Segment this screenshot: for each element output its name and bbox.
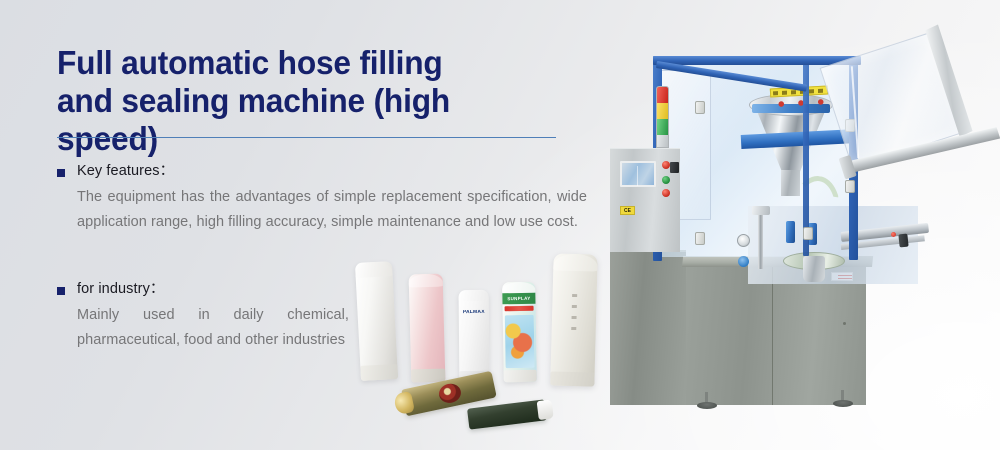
feature-title: for industry： (77, 280, 165, 299)
panel-clamp (803, 227, 813, 240)
text-column: Full automatic hose filling and sealing … (57, 44, 577, 158)
leveling-foot (697, 402, 717, 409)
toggle-switch (898, 234, 908, 248)
blue-indicator-dial (738, 256, 749, 267)
tube-green-sunplay: SUNPLAY (502, 282, 537, 383)
pressure-gauge (737, 234, 750, 247)
title-divider (57, 137, 556, 138)
feature-block-for-industry: for industry： Mainly used in daily chemi… (57, 280, 387, 353)
tube-crest-emblem (437, 382, 462, 405)
stack-light-tower (656, 86, 669, 148)
product-banner: Full automatic hose filling and sealing … (0, 0, 1000, 450)
tube-accent-stripe (505, 306, 534, 312)
tube-shoulder (355, 261, 393, 278)
filling-piston (758, 211, 763, 269)
feature-heading: Key features： (57, 162, 587, 181)
start-button (662, 176, 670, 184)
stack-light-green (657, 119, 668, 135)
filling-piston-head (752, 206, 770, 215)
tube-brand-label: PALMAX (459, 310, 489, 315)
tube-cap (411, 369, 445, 383)
red-indicator-lamp (891, 232, 896, 237)
hmi-touchscreen (620, 161, 656, 187)
stop-button (662, 189, 670, 197)
open-transparent-door (813, 23, 984, 184)
panel-clamp (695, 101, 705, 114)
tube-white-navy: PALMAX (459, 290, 490, 382)
ce-mark-label: CE (620, 206, 635, 215)
tube-cap (550, 371, 594, 386)
rotary-table-hub (803, 256, 825, 282)
tube-cap (504, 370, 537, 383)
stack-light-yellow (657, 103, 668, 119)
tube-cap (537, 399, 554, 420)
square-bullet-icon (57, 169, 65, 177)
cabinet-door-knob (843, 322, 846, 325)
feature-body: The equipment has the advantages of simp… (77, 185, 587, 235)
tube-beige-tall (550, 253, 597, 386)
tube-shoulder (553, 253, 597, 271)
stack-light-base (657, 135, 668, 148)
leveling-foot (833, 400, 853, 407)
stack-light-red (657, 87, 668, 103)
feature-block-key-features: Key features： The equipment has the adva… (57, 162, 587, 235)
selector-switch (670, 162, 679, 173)
tube-cap (393, 391, 415, 415)
tube-brand-label: SUNPLAY (502, 293, 535, 305)
tube-artwork (505, 315, 535, 368)
tube-white-care (355, 261, 398, 381)
feature-heading: for industry： (57, 280, 387, 299)
square-bullet-icon (57, 287, 65, 295)
tube-shoulder (409, 274, 443, 288)
product-tubes-photo: PALMAX SUNPLAY (340, 252, 602, 430)
tube-dot-pattern (571, 294, 577, 336)
machine-photo: CE (608, 28, 1000, 400)
tube-shoulder (459, 290, 489, 301)
emergency-stop-button (662, 161, 670, 169)
feature-title: Key features： (77, 162, 174, 181)
tube-brand-band: SUNPLAY (502, 293, 535, 305)
cabinet-doors (686, 265, 866, 405)
page-title: Full automatic hose filling and sealing … (57, 44, 556, 158)
tube-pink (409, 274, 446, 383)
cabinet-left-panel (610, 250, 686, 405)
blue-sensor (786, 221, 795, 243)
feature-body: Mainly used in daily chemical, pharmaceu… (77, 303, 349, 353)
panel-clamp (695, 232, 705, 245)
tube-dark-green (467, 399, 547, 429)
control-cabinet: CE (610, 148, 680, 252)
tube-cap (360, 364, 398, 381)
ce-mark-text: CE (621, 207, 634, 216)
tube-shoulder (502, 282, 535, 294)
